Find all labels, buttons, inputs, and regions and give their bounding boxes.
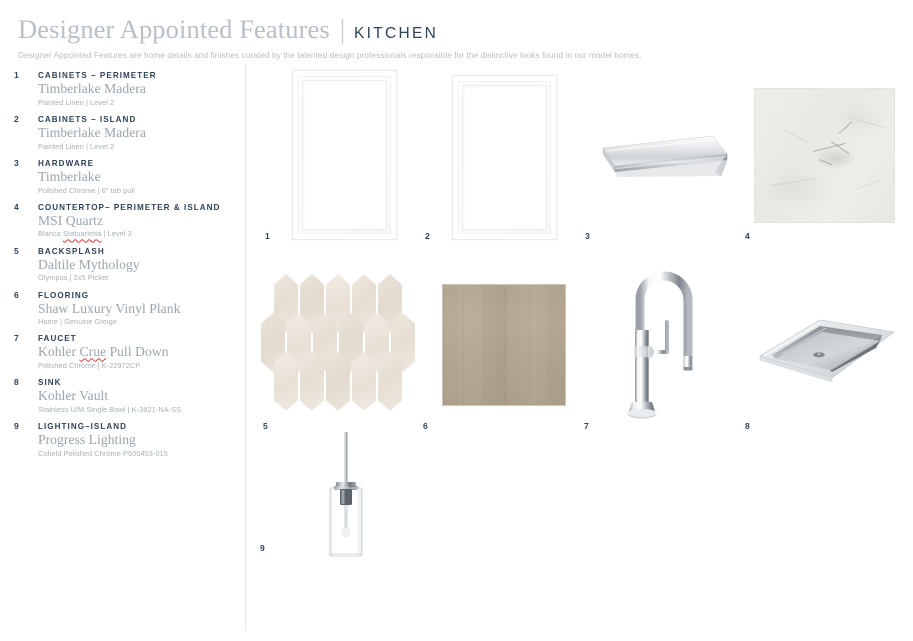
tile-picket bbox=[378, 352, 402, 411]
plank-grain-line bbox=[463, 285, 464, 405]
quartz-vein bbox=[771, 178, 817, 186]
spec-brand: Kohler Crue Pull Down bbox=[38, 344, 236, 359]
spec-category: FLOORING bbox=[38, 291, 89, 300]
list-item: 5 BACKSPLASH Daltile Mythology Olympus |… bbox=[14, 246, 236, 283]
swatch-number-6: 6 bbox=[423, 421, 428, 431]
page-header: Designer Appointed Features | KITCHEN De… bbox=[18, 14, 898, 60]
page-subtitle: Designer Appointed Features are home det… bbox=[18, 50, 898, 60]
spec-detail: Polished Chrome | 6" tab pull bbox=[38, 186, 236, 195]
tile-picket bbox=[300, 352, 324, 411]
spec-category: HARDWARE bbox=[38, 159, 94, 168]
page-title: Designer Appointed Features | KITCHEN bbox=[18, 14, 898, 45]
spec-category: BACKSPLASH bbox=[38, 247, 105, 256]
spec-number: 4 bbox=[14, 202, 38, 212]
swatch-number-2: 2 bbox=[425, 231, 430, 241]
spec-brand-post: Pull Down bbox=[106, 344, 168, 359]
swatch-number-9: 9 bbox=[260, 543, 265, 553]
spec-number: 9 bbox=[14, 421, 38, 431]
plank-seam bbox=[505, 285, 506, 405]
spec-number: 3 bbox=[14, 158, 38, 168]
spec-detail: Olympus | 2x5 Picket bbox=[38, 273, 236, 282]
list-item: 3 HARDWARE Timberlake Polished Chrome | … bbox=[14, 158, 236, 195]
luxury-vinyl-plank-flooring-image bbox=[442, 284, 566, 406]
spec-detail: Stainless U/M Single Bowl | K-3821-NA-SS bbox=[38, 405, 236, 414]
title-separator: | bbox=[340, 15, 345, 45]
spellcheck-underlined-word: Statuarietta bbox=[63, 229, 101, 238]
list-item: 8 SINK Kohler Vault Stainless U/M Single… bbox=[14, 377, 236, 414]
spec-number: 5 bbox=[14, 246, 38, 256]
spec-detail: Polished Chrome | K-22972CP bbox=[38, 361, 236, 370]
quartz-vein bbox=[839, 121, 853, 134]
spec-brand: MSI Quartz bbox=[38, 213, 236, 228]
cabinet-hardware-pull-image bbox=[595, 130, 735, 185]
spec-detail: Home | Genuine Greige bbox=[38, 317, 236, 326]
undermount-sink-image bbox=[752, 308, 900, 408]
list-item: 2 CABINETS – ISLAND Timberlake Madera Pa… bbox=[14, 114, 236, 151]
spec-brand: Timberlake Madera bbox=[38, 81, 236, 96]
sink-icon bbox=[752, 308, 900, 408]
list-item: 4 COUNTERTOP– PERIMETER & ISLAND MSI Qua… bbox=[14, 202, 236, 239]
pendant-light-icon bbox=[312, 432, 384, 564]
page-title-main: Designer Appointed Features bbox=[18, 14, 330, 45]
pull-down-faucet-image bbox=[618, 260, 710, 425]
spec-detail: Blanca Statuarietta | Level 3 bbox=[38, 229, 236, 238]
spec-brand: Kohler Vault bbox=[38, 388, 236, 403]
spec-detail: Cofield Polished Chrome P500403-015 bbox=[38, 449, 236, 458]
list-item: 7 FAUCET Kohler Crue Pull Down Polished … bbox=[14, 333, 236, 370]
cabinet-door-island-image bbox=[452, 75, 557, 240]
swatch-number-1: 1 bbox=[265, 231, 270, 241]
spec-category: CABINETS – ISLAND bbox=[38, 115, 136, 124]
spec-category: FAUCET bbox=[38, 334, 77, 343]
spec-number: 7 bbox=[14, 333, 38, 343]
island-pendant-light-image bbox=[312, 432, 384, 564]
tile-picket bbox=[326, 352, 350, 411]
tile-picket bbox=[274, 352, 298, 411]
spec-number: 1 bbox=[14, 70, 38, 80]
cabinet-door-perimeter-image bbox=[292, 70, 397, 240]
spec-brand: Timberlake bbox=[38, 169, 236, 184]
quartz-vein bbox=[783, 129, 810, 144]
spec-brand: Progress Lighting bbox=[38, 432, 236, 447]
swatch-number-8: 8 bbox=[745, 421, 750, 431]
door-recessed-panel bbox=[462, 85, 547, 230]
spec-number: 8 bbox=[14, 377, 38, 387]
spec-category: COUNTERTOP– PERIMETER & ISLAND bbox=[38, 203, 220, 212]
tile-picket bbox=[352, 352, 376, 411]
door-recessed-panel bbox=[302, 80, 387, 230]
quartz-countertop-image bbox=[754, 88, 895, 223]
plank-grain-line bbox=[549, 285, 550, 405]
spec-detail-pre: Blanca bbox=[38, 229, 63, 238]
spec-detail: Painted Linen | Level 2 bbox=[38, 98, 236, 107]
spec-category: SINK bbox=[38, 378, 62, 387]
plank-grain-line bbox=[484, 285, 485, 405]
spec-category: LIGHTING–ISLAND bbox=[38, 422, 127, 431]
quartz-vein bbox=[855, 179, 882, 190]
spec-detail: Painted Linen | Level 2 bbox=[38, 142, 236, 151]
vertical-divider bbox=[245, 64, 246, 630]
faucet-icon bbox=[618, 260, 710, 425]
specification-list: 1 CABINETS – PERIMETER Timberlake Madera… bbox=[14, 70, 236, 465]
list-item: 6 FLOORING Shaw Luxury Vinyl Plank Home … bbox=[14, 290, 236, 327]
swatch-number-5: 5 bbox=[263, 421, 268, 431]
swatch-number-4: 4 bbox=[745, 231, 750, 241]
picket-backsplash-tile-image bbox=[272, 268, 408, 413]
spec-category: CABINETS – PERIMETER bbox=[38, 71, 157, 80]
spec-number: 2 bbox=[14, 114, 38, 124]
spec-brand: Daltile Mythology bbox=[38, 257, 236, 272]
list-item: 1 CABINETS – PERIMETER Timberlake Madera… bbox=[14, 70, 236, 107]
designer-appointed-features-page: Designer Appointed Features | KITCHEN De… bbox=[0, 0, 913, 641]
spec-brand-pre: Kohler bbox=[38, 344, 80, 359]
swatch-number-3: 3 bbox=[585, 231, 590, 241]
quartz-vein bbox=[849, 117, 886, 128]
quartz-vein bbox=[819, 159, 832, 165]
tab-pull-icon bbox=[595, 130, 735, 185]
list-item: 9 LIGHTING–ISLAND Progress Lighting Cofi… bbox=[14, 421, 236, 458]
spec-brand: Timberlake Madera bbox=[38, 125, 236, 140]
plank-grain-line bbox=[529, 285, 530, 405]
spec-brand: Shaw Luxury Vinyl Plank bbox=[38, 301, 236, 316]
swatch-number-7: 7 bbox=[584, 421, 589, 431]
spec-detail-post: | Level 3 bbox=[101, 229, 131, 238]
spec-number: 6 bbox=[14, 290, 38, 300]
spellcheck-underlined-word: Crue bbox=[80, 344, 107, 359]
page-title-room: KITCHEN bbox=[354, 25, 438, 43]
